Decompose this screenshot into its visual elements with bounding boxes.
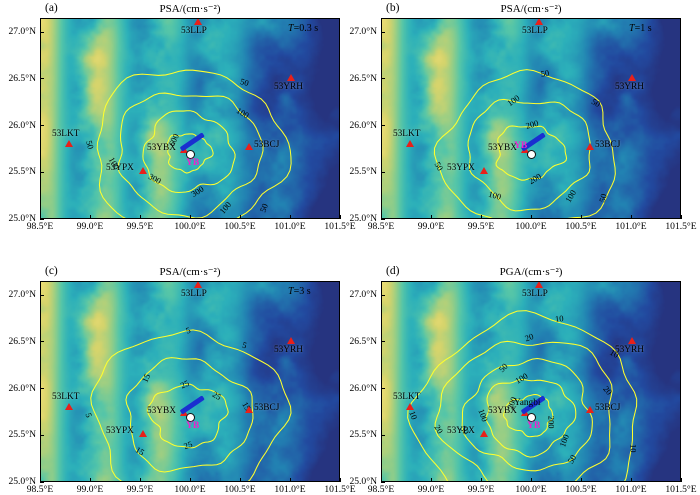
triangle-icon — [521, 146, 529, 153]
panel-title: PSA/(cm·s⁻²) — [381, 2, 681, 15]
triangle-icon — [180, 409, 188, 416]
y-tick-mark — [40, 219, 44, 220]
y-tick-mark — [381, 482, 385, 483]
contour-label: 600 — [166, 132, 180, 148]
triangle-icon — [586, 406, 594, 413]
station-label: 53YRH — [274, 82, 303, 92]
contour-label: 50 — [84, 139, 96, 150]
fault-rupture-bar — [180, 395, 205, 414]
epicenter-label: YB — [186, 157, 199, 168]
x-tick-label: 99.5°E — [112, 484, 168, 495]
x-tick-label: 100.5°E — [553, 484, 609, 495]
contour-line-5 — [91, 330, 291, 481]
y-tick-label: 25.5°N — [337, 166, 377, 177]
x-tick-label: 99.5°E — [453, 221, 509, 232]
station-label: 53LKT — [52, 129, 79, 139]
contour-line-50 — [434, 70, 615, 218]
y-tick-label: 26.0°N — [337, 120, 377, 131]
x-tick-mark — [581, 215, 582, 219]
contour-label: 50 — [239, 76, 250, 88]
panel-label: (c) — [45, 265, 58, 277]
panel-title: PGA/(cm·s⁻²) — [381, 265, 681, 278]
y-tick-label: 26.0°N — [337, 383, 377, 394]
y-tick-label: 25.0°N — [0, 476, 36, 487]
x-tick-mark — [531, 478, 532, 482]
station-label: 53BCJ — [595, 140, 620, 150]
contour-label: 50 — [597, 193, 609, 204]
map-plot-area: 60030030010010010050505053LLP53YRH53LKT5… — [40, 18, 340, 219]
contour-layer: 600300300100100100505050 — [41, 19, 339, 218]
y-tick-mark — [381, 125, 385, 126]
x-tick-mark — [381, 215, 382, 219]
station-label: 53YBX — [147, 406, 176, 416]
x-tick-label: 101.0°E — [603, 484, 659, 495]
y-tick-label: 25.5°N — [337, 429, 377, 440]
map-plot-area: 2002001001001005050505053LLP53YRH53LKT53… — [381, 18, 681, 219]
x-tick-label: 99.0°E — [62, 484, 118, 495]
station-label: 53YRH — [274, 345, 303, 355]
contour-line-50 — [462, 359, 592, 471]
contour-line-200 — [496, 126, 567, 180]
x-tick-label: 99.0°E — [62, 221, 118, 232]
station-label: 53YBX — [488, 406, 517, 416]
y-tick-label: 25.5°N — [0, 429, 36, 440]
contour-label: 100 — [107, 155, 122, 171]
contour-label: 15 — [240, 400, 253, 412]
contour-line-200 — [503, 395, 552, 437]
triangle-icon — [139, 167, 147, 174]
x-tick-label: 100.0°E — [503, 484, 559, 495]
terrain-basemap — [382, 282, 680, 481]
x-tick-label: 101.5°E — [653, 484, 700, 495]
station-label: 53YPX — [106, 426, 134, 436]
triangle-icon — [139, 430, 147, 437]
fault-rupture-bar — [521, 132, 546, 151]
x-tick-label: 99.5°E — [112, 221, 168, 232]
station-label: 53LLP — [181, 26, 207, 36]
triangle-icon — [480, 430, 488, 437]
triangle-icon — [406, 140, 414, 147]
x-tick-mark — [190, 215, 191, 219]
y-tick-mark — [381, 341, 385, 342]
x-tick-label: 100.0°E — [162, 221, 218, 232]
y-tick-label: 26.5°N — [337, 336, 377, 347]
triangle-icon — [535, 281, 543, 288]
triangle-icon — [245, 406, 253, 413]
station-label: 53LLP — [522, 26, 548, 36]
triangle-icon — [406, 403, 414, 410]
contour-label: 20 — [601, 384, 614, 397]
contour-label: 100 — [476, 408, 490, 423]
contour-label: 5 — [84, 411, 95, 418]
x-tick-mark — [631, 215, 632, 219]
x-tick-mark — [40, 478, 41, 482]
triangle-icon — [65, 403, 73, 410]
station-label: 53YPX — [447, 163, 475, 173]
x-tick-mark — [481, 215, 482, 219]
panel-label: (d) — [386, 265, 399, 277]
epicenter-label: YB — [527, 420, 540, 431]
x-tick-mark — [581, 478, 582, 482]
contour-label: 100 — [235, 105, 251, 120]
contour-label: 5 — [184, 325, 191, 336]
contour-label: 5 — [241, 340, 248, 351]
fault-rupture-bar — [180, 132, 205, 151]
station-label: 53BCJ — [595, 403, 620, 413]
triangle-icon — [245, 143, 253, 150]
x-tick-mark — [140, 215, 141, 219]
contour-label: 100 — [513, 371, 529, 386]
x-tick-label: 99.0°E — [403, 484, 459, 495]
contour-label: 10 — [629, 444, 639, 453]
panel-title: PSA/(cm·s⁻²) — [40, 2, 340, 15]
epicenter-label: YB — [514, 140, 527, 151]
y-tick-mark — [40, 341, 44, 342]
contour-label: 10 — [407, 409, 419, 420]
x-tick-label: 99.5°E — [453, 484, 509, 495]
y-tick-mark — [381, 435, 385, 436]
y-tick-label: 26.0°N — [0, 120, 36, 131]
x-tick-mark — [681, 478, 682, 482]
map-plot-area: 2002001001001005050502020201010101053LLP… — [381, 281, 681, 482]
station-label: 53LKT — [393, 392, 420, 402]
x-tick-mark — [681, 215, 682, 219]
fault-rupture-bar — [521, 395, 546, 414]
x-tick-label: 100.0°E — [503, 221, 559, 232]
contour-layer: 252525151515555 — [41, 282, 339, 481]
x-tick-mark — [431, 478, 432, 482]
x-tick-label: 100.5°E — [212, 484, 268, 495]
x-tick-mark — [90, 478, 91, 482]
y-tick-mark — [40, 482, 44, 483]
y-tick-mark — [40, 388, 44, 389]
epicenter-marker — [186, 150, 195, 159]
y-tick-mark — [40, 125, 44, 126]
x-tick-mark — [431, 215, 432, 219]
triangle-icon — [628, 74, 636, 81]
station-label: 53BCJ — [254, 403, 279, 413]
triangle-icon — [628, 337, 636, 344]
contour-line-50 — [97, 70, 291, 218]
triangle-icon — [194, 18, 202, 25]
y-tick-mark — [381, 295, 385, 296]
contour-label: 50 — [433, 160, 446, 172]
x-tick-label: 98.5°E — [12, 221, 68, 232]
epicenter-marker — [186, 413, 195, 422]
contour-label: 200 — [505, 396, 519, 411]
contour-line-300 — [143, 111, 235, 193]
panel-c: (c)PSA/(cm·s⁻²)25252515151555553LLP53YRH… — [0, 0, 700, 487]
x-tick-label: 98.5°E — [353, 484, 409, 495]
contour-label: 200 — [525, 118, 540, 131]
epicenter-marker — [527, 413, 536, 422]
x-tick-label: 99.0°E — [403, 221, 459, 232]
y-tick-mark — [381, 78, 385, 79]
station-label: 53BCJ — [254, 140, 279, 150]
contour-line-15 — [126, 358, 253, 472]
x-tick-label: 100.5°E — [553, 221, 609, 232]
triangle-icon — [194, 281, 202, 288]
y-tick-label: 25.5°N — [0, 166, 36, 177]
contour-label: 10 — [555, 313, 564, 324]
y-tick-mark — [40, 32, 44, 33]
triangle-icon — [480, 167, 488, 174]
y-tick-mark — [40, 295, 44, 296]
station-label: 53YRH — [615, 345, 644, 355]
y-tick-mark — [40, 172, 44, 173]
epicenter-label: YB — [186, 420, 199, 431]
x-tick-label: 101.0°E — [262, 221, 318, 232]
figure-root: (a)PSA/(cm·s⁻²)6003003001001001005050505… — [0, 0, 700, 487]
y-tick-label: 26.5°N — [0, 336, 36, 347]
x-tick-label: 101.5°E — [312, 221, 368, 232]
y-tick-label: 25.0°N — [337, 476, 377, 487]
x-tick-label: 101.5°E — [653, 221, 700, 232]
station-label: 53LKT — [393, 129, 420, 139]
y-tick-mark — [40, 78, 44, 79]
station-label: 53YBX — [488, 143, 517, 153]
contour-line-10 — [408, 311, 637, 481]
triangle-icon — [521, 409, 529, 416]
y-tick-label: 25.0°N — [0, 213, 36, 224]
contour-label: 200 — [546, 416, 556, 429]
contour-label: 10 — [608, 347, 620, 360]
contour-label: 15 — [134, 444, 146, 457]
panel-d: (d)PGA/(cm·s⁻²)2002001001001005050502020… — [0, 0, 700, 487]
contour-label: 300 — [189, 184, 205, 199]
x-tick-mark — [381, 478, 382, 482]
contour-label: 50 — [540, 68, 550, 79]
period-annotation: T=1 s — [629, 23, 652, 34]
contour-line-100 — [118, 93, 263, 218]
contour-label: 15 — [140, 372, 153, 384]
contour-line-100 — [486, 380, 576, 458]
x-tick-mark — [90, 215, 91, 219]
y-tick-mark — [381, 219, 385, 220]
x-tick-label: 100.0°E — [162, 484, 218, 495]
station-label: 53YBX — [147, 143, 176, 153]
panel-label: (a) — [45, 2, 58, 14]
y-tick-mark — [381, 172, 385, 173]
triangle-icon — [65, 140, 73, 147]
contour-label: 50 — [565, 453, 578, 465]
panel-b: (b)PSA/(cm·s⁻²)2002001001001005050505053… — [0, 0, 700, 487]
x-tick-label: 98.5°E — [353, 221, 409, 232]
x-tick-mark — [290, 215, 291, 219]
contour-label: 25 — [211, 389, 223, 402]
period-annotation: T=0.3 s — [288, 23, 318, 34]
terrain-basemap — [41, 282, 339, 481]
contour-label: 200 — [527, 171, 543, 186]
y-tick-label: 27.0°N — [0, 289, 36, 300]
contour-label: 20 — [523, 331, 534, 343]
x-tick-mark — [340, 215, 341, 219]
period-annotation: T=3 s — [288, 286, 311, 297]
contour-line-100 — [468, 99, 590, 210]
contour-label: 100 — [487, 189, 502, 202]
y-tick-label: 26.5°N — [337, 73, 377, 84]
y-tick-mark — [381, 32, 385, 33]
city-label-yangbi: Yangbi — [514, 398, 540, 408]
map-plot-area: 25252515151555553LLP53YRH53LKT53BCJ53YBX… — [40, 281, 340, 482]
contour-label: 50 — [458, 424, 471, 437]
contour-line-600 — [167, 134, 213, 173]
triangle-icon — [287, 337, 295, 344]
x-tick-mark — [290, 478, 291, 482]
contour-label: 100 — [505, 93, 521, 108]
panel-a: (a)PSA/(cm·s⁻²)6003003001001001005050505… — [0, 0, 700, 487]
x-tick-label: 100.5°E — [212, 221, 268, 232]
contour-label: 100 — [557, 433, 571, 448]
station-label: 53YPX — [106, 163, 134, 173]
triangle-icon — [287, 74, 295, 81]
contour-label: 50 — [258, 202, 270, 213]
y-tick-label: 27.0°N — [0, 26, 36, 37]
contour-layer: 20020010010010050505020202010101010 — [382, 282, 680, 481]
x-tick-mark — [481, 478, 482, 482]
x-tick-mark — [340, 478, 341, 482]
terrain-basemap — [41, 19, 339, 218]
contour-line-20 — [435, 341, 612, 481]
contour-label: 50 — [590, 96, 602, 109]
contour-label: 25 — [182, 439, 193, 451]
y-tick-label: 27.0°N — [337, 26, 377, 37]
x-tick-label: 101.0°E — [603, 221, 659, 232]
station-label: 53YRH — [615, 82, 644, 92]
panel-label: (b) — [386, 2, 399, 14]
x-tick-mark — [190, 478, 191, 482]
contour-label: 25 — [179, 378, 191, 391]
y-tick-mark — [381, 388, 385, 389]
station-label: 53LLP — [181, 289, 207, 299]
contour-label: 300 — [147, 171, 163, 186]
x-tick-label: 101.5°E — [312, 484, 368, 495]
x-tick-label: 98.5°E — [12, 484, 68, 495]
x-tick-mark — [631, 478, 632, 482]
x-tick-mark — [140, 478, 141, 482]
station-label: 53LLP — [522, 289, 548, 299]
contour-layer: 20020010010010050505050 — [382, 19, 680, 218]
x-tick-mark — [240, 215, 241, 219]
panel-title: PSA/(cm·s⁻²) — [40, 265, 340, 278]
contour-label: 100 — [217, 200, 233, 216]
x-tick-mark — [40, 215, 41, 219]
contour-label: 50 — [497, 361, 510, 374]
station-label: 53LKT — [52, 392, 79, 402]
y-tick-label: 26.5°N — [0, 73, 36, 84]
y-tick-label: 25.0°N — [337, 213, 377, 224]
y-tick-label: 27.0°N — [337, 289, 377, 300]
terrain-basemap — [382, 19, 680, 218]
contour-label: 100 — [563, 188, 578, 204]
y-tick-mark — [40, 435, 44, 436]
x-tick-mark — [531, 215, 532, 219]
triangle-icon — [180, 146, 188, 153]
epicenter-marker — [527, 150, 536, 159]
x-tick-label: 101.0°E — [262, 484, 318, 495]
x-tick-mark — [240, 478, 241, 482]
triangle-icon — [586, 143, 594, 150]
y-tick-label: 26.0°N — [0, 383, 36, 394]
triangle-icon — [535, 18, 543, 25]
contour-label: 20 — [432, 423, 445, 435]
station-label: 53YPX — [447, 426, 475, 436]
contour-line-25 — [147, 384, 228, 448]
